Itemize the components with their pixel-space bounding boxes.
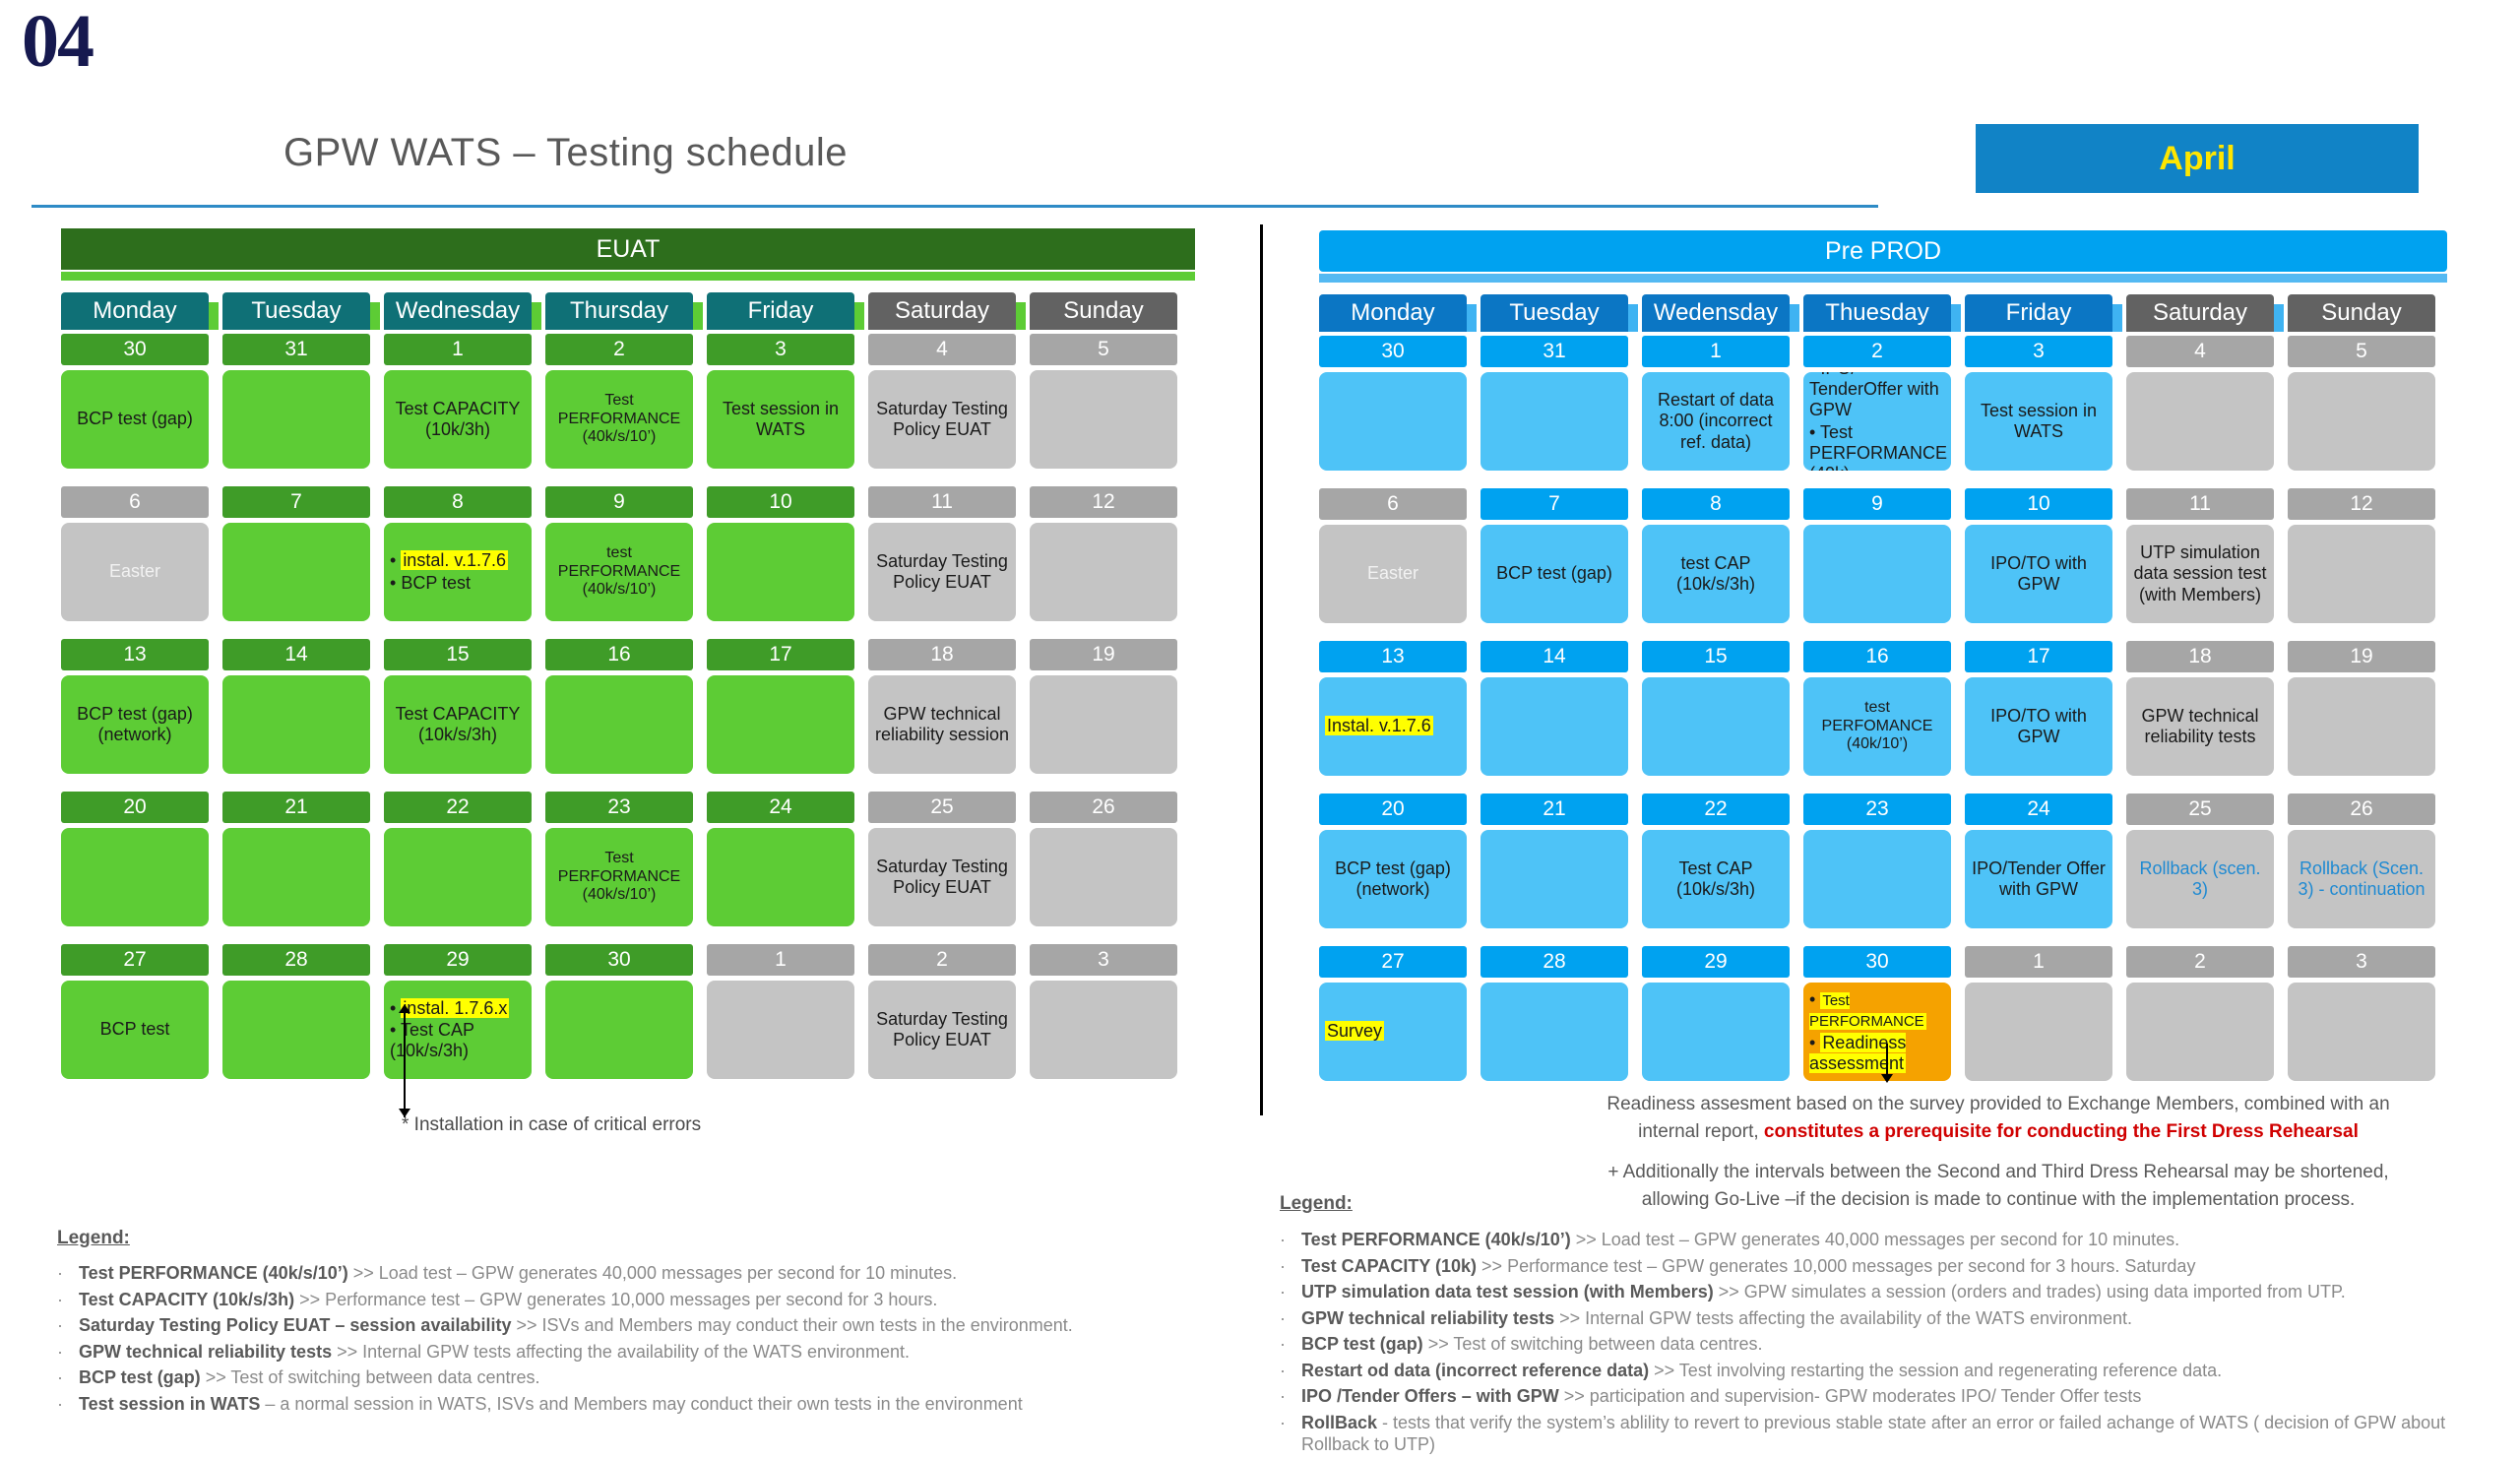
- preprod-day-cell[interactable]: test CAP (10k/s/3h): [1642, 525, 1790, 623]
- euat-day-number: 29: [384, 944, 532, 976]
- euat-day-number: 20: [61, 792, 209, 823]
- euat-day-11[interactable]: 11Saturday Testing Policy EUAT: [868, 486, 1016, 621]
- euat-legend-term: Saturday Testing Policy EUAT – session a…: [79, 1315, 511, 1335]
- preprod-dayname-tuesday: Tuesday: [1480, 294, 1628, 332]
- preprod-day-cell[interactable]: [1480, 983, 1628, 1081]
- preprod-day-3[interactable]: 3: [2288, 946, 2435, 1081]
- preprod-day-cell[interactable]: [2126, 983, 2274, 1081]
- euat-day-cell[interactable]: test PERFORMANCE (40k/s/10’): [545, 523, 693, 621]
- preprod-day-number: 12: [2288, 488, 2435, 520]
- euat-day-17[interactable]: 17: [707, 639, 854, 774]
- preprod-day-gap: [2112, 793, 2126, 928]
- readiness-note-line1: Readiness assesment based on the survey …: [1575, 1091, 2422, 1118]
- preprod-day-cell[interactable]: IPO/TO with GPW: [1965, 677, 2112, 776]
- preprod-day-number: 3: [2288, 946, 2435, 978]
- preprod-day-2[interactable]: 2• IPO/ TenderOffer with GPW• Test PERFO…: [1803, 336, 1951, 471]
- euat-day-cell[interactable]: [1030, 523, 1177, 621]
- bullet-dot-icon: •: [1809, 422, 1820, 442]
- euat-cell-label: GPW technical reliability session: [874, 704, 1010, 745]
- euat-day-cell[interactable]: BCP test: [61, 981, 209, 1079]
- preprod-day-26[interactable]: 26Rollback (Scen. 3) - continuation: [2288, 793, 2435, 928]
- bullet-dot-icon: ·: [1280, 1229, 1301, 1251]
- euat-day-number: 9: [545, 486, 693, 518]
- installation-arrow-euat: [398, 1004, 411, 1117]
- preprod-day-number: 26: [2288, 793, 2435, 825]
- preprod-day-gap: [1951, 946, 1965, 1081]
- euat-day-cell[interactable]: [1030, 675, 1177, 774]
- euat-day-23[interactable]: 23Test PERFORMANCE (40k/s/10’): [545, 792, 693, 926]
- euat-dayname-sunday: Sunday: [1030, 292, 1177, 330]
- euat-day-3[interactable]: 3Test session in WATS: [707, 334, 854, 469]
- euat-cell-bullet: • instal. v.1.7.6: [390, 550, 526, 571]
- section-divider: [1260, 224, 1263, 1115]
- euat-day-30[interactable]: 30BCP test (gap): [61, 334, 209, 469]
- euat-legend-item: ·GPW technical reliability tests >> Inte…: [57, 1341, 1219, 1364]
- preprod-day-cell[interactable]: Rollback (Scen. 3) - continuation: [2288, 830, 2435, 928]
- bullet-dot-icon: ·: [1280, 1412, 1301, 1434]
- euat-legend-term: GPW technical reliability tests: [79, 1342, 332, 1362]
- euat-day-number: 2: [545, 334, 693, 365]
- euat-day-31[interactable]: 31: [222, 334, 370, 469]
- euat-day-cell[interactable]: Test session in WATS: [707, 370, 854, 469]
- preprod-legend-item: ·Test CAPACITY (10k) >> Performance test…: [1280, 1255, 2510, 1278]
- preprod-cell-bullet: • Readiness assessment: [1809, 1033, 1945, 1074]
- preprod-day-29[interactable]: 29: [1642, 946, 1790, 1081]
- preprod-day-cell[interactable]: [2288, 525, 2435, 623]
- preprod-day-gap: [2274, 946, 2288, 1081]
- euat-day-cell[interactable]: BCP test (gap): [61, 370, 209, 469]
- readiness-arrow-preprod: [1880, 1044, 1894, 1083]
- euat-cell-label: Test CAPACITY (10k/s/3h): [390, 704, 526, 745]
- euat-day-number: 27: [61, 944, 209, 976]
- preprod-day-cell[interactable]: Rollback (scen. 3): [2126, 830, 2274, 928]
- preprod-legend-text: Restart od data (incorrect reference dat…: [1301, 1360, 2222, 1382]
- preprod-day-cell[interactable]: [1480, 830, 1628, 928]
- euat-day-cell[interactable]: [545, 675, 693, 774]
- page-title: GPW WATS – Testing schedule: [283, 131, 848, 175]
- preprod-day-cell[interactable]: [1642, 983, 1790, 1081]
- euat-cell-label: Saturday Testing Policy EUAT: [874, 551, 1010, 593]
- preprod-day-15[interactable]: 15: [1642, 641, 1790, 776]
- euat-day-cell[interactable]: [1030, 370, 1177, 469]
- euat-dayname-thursday: Thursday: [545, 292, 693, 330]
- preprod-day-number: 1: [1642, 336, 1790, 367]
- preprod-day-cell[interactable]: [2288, 983, 2435, 1081]
- bullet-dot-icon: ·: [57, 1393, 79, 1416]
- preprod-day-gap: [2274, 793, 2288, 928]
- euat-day-cell[interactable]: • instal. v.1.7.6• BCP test: [384, 523, 532, 621]
- euat-day-gap: [693, 486, 707, 621]
- euat-day-10[interactable]: 10: [707, 486, 854, 621]
- preprod-day-number: 20: [1319, 793, 1467, 825]
- preprod-day-3[interactable]: 3Test session in WATS: [1965, 336, 2112, 471]
- euat-day-24[interactable]: 24: [707, 792, 854, 926]
- euat-day-cell[interactable]: Easter: [61, 523, 209, 621]
- euat-day-2[interactable]: 2Test PERFORMANCE (40k/s/10’): [545, 334, 693, 469]
- preprod-day-cell[interactable]: [2288, 372, 2435, 471]
- preprod-dayname-separator: [1467, 294, 1480, 332]
- preprod-day-1[interactable]: 1Restart of data 8:00 (incorrect ref. da…: [1642, 336, 1790, 471]
- euat-day-number: 23: [545, 792, 693, 823]
- preprod-legend-text: GPW technical reliability tests >> Inter…: [1301, 1307, 2132, 1330]
- bullet-dot-icon: ·: [57, 1262, 79, 1285]
- euat-day-cell[interactable]: [61, 828, 209, 926]
- preprod-day-gap: [1628, 488, 1642, 623]
- euat-legend-item: ·Test PERFORMANCE (40k/s/10’) >> Load te…: [57, 1262, 1219, 1285]
- preprod-day-14[interactable]: 14: [1480, 641, 1628, 776]
- euat-week-row: 30BCP test (gap)311Test CAPACITY (10k/3h…: [61, 334, 1195, 469]
- euat-day-gap: [370, 639, 384, 774]
- preprod-day-22[interactable]: 22Test CAP (10k/s/3h): [1642, 793, 1790, 928]
- euat-day-number: 14: [222, 639, 370, 670]
- euat-legend-term: Test session in WATS: [79, 1394, 260, 1414]
- preprod-banner-underline: [1319, 274, 2447, 283]
- preprod-day-2[interactable]: 2: [2126, 946, 2274, 1081]
- preprod-day-18[interactable]: 18GPW technical reliability tests: [2126, 641, 2274, 776]
- euat-day-13[interactable]: 13BCP test (gap) (network): [61, 639, 209, 774]
- preprod-day-cell[interactable]: IPO/TO with GPW: [1965, 525, 2112, 623]
- preprod-day-17[interactable]: 17IPO/TO with GPW: [1965, 641, 2112, 776]
- preprod-cell-label: Test CAP (10k/s/3h): [1648, 858, 1784, 900]
- euat-cell-label: test PERFORMANCE (40k/s/10’): [551, 544, 687, 601]
- preprod-day-gap: [1790, 641, 1803, 776]
- preprod-dayname-monday: Monday: [1319, 294, 1467, 332]
- preprod-day-30[interactable]: 30• Test PERFORMANCE• Readiness assessme…: [1803, 946, 1951, 1081]
- preprod-day-20[interactable]: 20BCP test (gap) (network): [1319, 793, 1467, 928]
- euat-day-gap: [693, 334, 707, 469]
- euat-day-12[interactable]: 12: [1030, 486, 1177, 621]
- euat-day-gap: [532, 792, 545, 926]
- preprod-legend-text: Test PERFORMANCE (40k/s/10’) >> Load tes…: [1301, 1229, 2179, 1251]
- preprod-dayname-thuesday: Thuesday: [1803, 294, 1951, 332]
- euat-legend: ·Test PERFORMANCE (40k/s/10’) >> Load te…: [57, 1262, 1219, 1419]
- euat-cell-label: BCP test: [100, 1019, 170, 1040]
- preprod-day-cell[interactable]: [1965, 983, 2112, 1081]
- euat-day-cell[interactable]: Saturday Testing Policy EUAT: [868, 370, 1016, 469]
- bullet-dot-icon: •: [1809, 372, 1820, 378]
- euat-day-cell[interactable]: Test CAPACITY (10k/3h): [384, 370, 532, 469]
- euat-day-6[interactable]: 6Easter: [61, 486, 209, 621]
- euat-dayname-separator: [209, 292, 222, 330]
- preprod-day-1[interactable]: 1: [1965, 946, 2112, 1081]
- euat-day-5[interactable]: 5: [1030, 334, 1177, 469]
- preprod-day-28[interactable]: 28: [1480, 946, 1628, 1081]
- preprod-day-27[interactable]: 27Survey: [1319, 946, 1467, 1081]
- preprod-legend-term: Restart od data (incorrect reference dat…: [1301, 1361, 1649, 1380]
- preprod-day-number: 18: [2126, 641, 2274, 672]
- euat-day-14[interactable]: 14: [222, 639, 370, 774]
- euat-day-cell[interactable]: [384, 828, 532, 926]
- euat-day-cell[interactable]: [707, 523, 854, 621]
- preprod-day-number: 4: [2126, 336, 2274, 367]
- preprod-dayname-separator: [1790, 294, 1803, 332]
- preprod-day-cell[interactable]: [2288, 677, 2435, 776]
- preprod-day-cell[interactable]: IPO/Tender Offer with GPW: [1965, 830, 2112, 928]
- euat-day-number: 31: [222, 334, 370, 365]
- euat-day-number: 7: [222, 486, 370, 518]
- preprod-day-cell[interactable]: BCP test (gap) (network): [1319, 830, 1467, 928]
- euat-day-number: 15: [384, 639, 532, 670]
- euat-cell-label: Test CAPACITY (10k/3h): [390, 399, 526, 440]
- preprod-day-21[interactable]: 21: [1480, 793, 1628, 928]
- euat-day-number: 11: [868, 486, 1016, 518]
- preprod-legend-title: Legend:: [1280, 1193, 1353, 1215]
- preprod-day-cell[interactable]: [1480, 677, 1628, 776]
- preprod-day-31[interactable]: 31: [1480, 336, 1628, 471]
- euat-day-20[interactable]: 20: [61, 792, 209, 926]
- euat-day-gap: [370, 486, 384, 621]
- preprod-day-number: 15: [1642, 641, 1790, 672]
- euat-cell-label: Saturday Testing Policy EUAT: [874, 1009, 1010, 1050]
- preprod-day-cell[interactable]: Instal. v.1.7.6: [1319, 677, 1467, 776]
- euat-day-number: 4: [868, 334, 1016, 365]
- preprod-day-cell[interactable]: [1319, 372, 1467, 471]
- preprod-legend-desc: >> Test involving restarting the session…: [1649, 1361, 2222, 1380]
- preprod-cell-highlight-label: Survey: [1325, 1021, 1384, 1041]
- euat-cell-bullet-label: instal. v.1.7.6: [401, 550, 508, 570]
- preprod-day-number: 11: [2126, 488, 2274, 520]
- euat-day-gap: [532, 944, 545, 1079]
- preprod-day-16[interactable]: 16test PERFOMANCE (40k/10’): [1803, 641, 1951, 776]
- euat-day-8[interactable]: 8• instal. v.1.7.6• BCP test: [384, 486, 532, 621]
- euat-day-number: 25: [868, 792, 1016, 823]
- euat-day-26[interactable]: 26: [1030, 792, 1177, 926]
- preprod-week-row: 13Instal. v.1.7.6141516test PERFOMANCE (…: [1319, 641, 2447, 776]
- euat-day-1[interactable]: 1Test CAPACITY (10k/3h): [384, 334, 532, 469]
- preprod-day-number: 30: [1803, 946, 1951, 978]
- euat-day-gap: [1016, 792, 1030, 926]
- preprod-day-gap: [1790, 793, 1803, 928]
- euat-day-gap: [209, 792, 222, 926]
- preprod-day-gap: [1951, 336, 1965, 471]
- bullet-dot-icon: •: [1809, 989, 1820, 1009]
- readiness-note-line4: allowing Go-Live –if the decision is mad…: [1575, 1186, 2422, 1214]
- readiness-note-line2-prefix: internal report,: [1638, 1121, 1764, 1142]
- euat-legend-item: ·Test session in WATS – a normal session…: [57, 1393, 1219, 1416]
- euat-day-cell[interactable]: Test PERFORMANCE (40k/s/10’): [545, 828, 693, 926]
- preprod-day-gap: [1467, 641, 1480, 776]
- preprod-day-7[interactable]: 7BCP test (gap): [1480, 488, 1628, 623]
- preprod-day-cell[interactable]: [1480, 372, 1628, 471]
- bullet-dot-icon: ·: [57, 1366, 79, 1389]
- euat-day-cell[interactable]: Saturday Testing Policy EUAT: [868, 981, 1016, 1079]
- preprod-day-25[interactable]: 25Rollback (scen. 3): [2126, 793, 2274, 928]
- preprod-legend-item: ·Test PERFORMANCE (40k/s/10’) >> Load te…: [1280, 1229, 2510, 1251]
- euat-day-gap: [854, 792, 868, 926]
- euat-day-28[interactable]: 28: [222, 944, 370, 1079]
- month-badge: April: [1976, 124, 2419, 193]
- euat-legend-term: Test CAPACITY (10k/s/3h): [79, 1290, 294, 1309]
- preprod-day-cell[interactable]: BCP test (gap): [1480, 525, 1628, 623]
- euat-day-gap: [532, 486, 545, 621]
- euat-day-number: 10: [707, 486, 854, 518]
- preprod-legend-term: IPO /Tender Offers – with GPW: [1301, 1386, 1559, 1406]
- preprod-day-number: 5: [2288, 336, 2435, 367]
- preprod-day-number: 10: [1965, 488, 2112, 520]
- bullet-dot-icon: •: [1809, 1033, 1820, 1052]
- euat-day-25[interactable]: 25Saturday Testing Policy EUAT: [868, 792, 1016, 926]
- euat-day-cell[interactable]: [707, 828, 854, 926]
- euat-day-7[interactable]: 7: [222, 486, 370, 621]
- euat-day-number: 16: [545, 639, 693, 670]
- euat-legend-text: GPW technical reliability tests >> Inter…: [79, 1341, 910, 1364]
- preprod-day-cell[interactable]: UTP simulation data session test (with M…: [2126, 525, 2274, 623]
- euat-day-gap: [854, 334, 868, 469]
- preprod-cell-bullets: • Test PERFORMANCE• Readiness assessment: [1809, 988, 1945, 1075]
- preprod-day-number: 6: [1319, 488, 1467, 520]
- euat-dayname-saturday: Saturday: [868, 292, 1016, 330]
- preprod-day-gap: [2274, 488, 2288, 623]
- euat-day-cell[interactable]: [707, 981, 854, 1079]
- euat-day-gap: [370, 334, 384, 469]
- preprod-day-30[interactable]: 30: [1319, 336, 1467, 471]
- preprod-day-cell[interactable]: [2126, 372, 2274, 471]
- euat-day-cell[interactable]: BCP test (gap) (network): [61, 675, 209, 774]
- readiness-note: Readiness assesment based on the survey …: [1575, 1091, 2422, 1213]
- euat-cell-label: Easter: [109, 561, 160, 582]
- preprod-cell-highlight: Instal. v.1.7.6: [1325, 716, 1461, 736]
- preprod-legend-term: GPW technical reliability tests: [1301, 1308, 1554, 1328]
- preprod-day-10[interactable]: 10IPO/TO with GPW: [1965, 488, 2112, 623]
- euat-day-cell[interactable]: [222, 981, 370, 1079]
- preprod-dayname-friday: Friday: [1965, 294, 2112, 332]
- euat-day-cell[interactable]: [707, 675, 854, 774]
- preprod-cell-label: test CAP (10k/s/3h): [1648, 553, 1784, 595]
- preprod-day-cell[interactable]: test PERFOMANCE (40k/10’): [1803, 677, 1951, 776]
- euat-day-3[interactable]: 3: [1030, 944, 1177, 1079]
- preprod-legend-item: ·RollBack - tests that verify the system…: [1280, 1412, 2510, 1456]
- euat-legend-item: ·BCP test (gap) >> Test of switching bet…: [57, 1366, 1219, 1389]
- preprod-cell-label: IPO/TO with GPW: [1971, 706, 2107, 747]
- preprod-day-13[interactable]: 13Instal. v.1.7.6: [1319, 641, 1467, 776]
- euat-day-30[interactable]: 30: [545, 944, 693, 1079]
- preprod-day-gap: [2112, 641, 2126, 776]
- preprod-day-cell[interactable]: Test session in WATS: [1965, 372, 2112, 471]
- euat-day-1[interactable]: 1: [707, 944, 854, 1079]
- preprod-day-cell[interactable]: Survey: [1319, 983, 1467, 1081]
- euat-day-18[interactable]: 18GPW technical reliability session: [868, 639, 1016, 774]
- preprod-day-number: 2: [1803, 336, 1951, 367]
- euat-day-gap: [209, 334, 222, 469]
- euat-day-number: 6: [61, 486, 209, 518]
- preprod-cell-label: Test session in WATS: [1971, 401, 2107, 442]
- euat-day-cell[interactable]: [222, 828, 370, 926]
- preprod-week-row: 30311Restart of data 8:00 (incorrect ref…: [1319, 336, 2447, 471]
- preprod-day-cell[interactable]: • IPO/ TenderOffer with GPW• Test PERFOR…: [1803, 372, 1951, 471]
- preprod-cell-label: Rollback (scen. 3): [2132, 858, 2268, 900]
- readiness-note-line3: + Additionally the intervals between the…: [1575, 1159, 2422, 1186]
- euat-day-gap: [693, 944, 707, 1079]
- euat-footnote: * Installation in case of critical error…: [402, 1114, 701, 1136]
- euat-day-cell[interactable]: Test PERFORMANCE (40k/s/10’): [545, 370, 693, 469]
- preprod-day-23[interactable]: 23: [1803, 793, 1951, 928]
- euat-dayname-wednesday: Wednesday: [384, 292, 532, 330]
- euat-day-cell[interactable]: Saturday Testing Policy EUAT: [868, 523, 1016, 621]
- preprod-legend-desc: >> participation and supervision- GPW mo…: [1559, 1386, 2142, 1406]
- euat-day-cell[interactable]: [222, 675, 370, 774]
- preprod-cell-bullet-label: Test PERFORMANCE: [1809, 992, 1926, 1030]
- euat-day-number: 1: [707, 944, 854, 976]
- euat-day-cell[interactable]: [545, 981, 693, 1079]
- preprod-day-19[interactable]: 19: [2288, 641, 2435, 776]
- preprod-day-cell[interactable]: [1642, 677, 1790, 776]
- euat-day-16[interactable]: 16: [545, 639, 693, 774]
- preprod-day-gap: [1467, 793, 1480, 928]
- euat-day-4[interactable]: 4Saturday Testing Policy EUAT: [868, 334, 1016, 469]
- preprod-day-cell[interactable]: GPW technical reliability tests: [2126, 677, 2274, 776]
- euat-dayname-separator: [370, 292, 384, 330]
- euat-week-row: 13BCP test (gap) (network)1415Test CAPAC…: [61, 639, 1195, 774]
- euat-cell-label: Saturday Testing Policy EUAT: [874, 857, 1010, 898]
- preprod-cell-label: IPO/TO with GPW: [1971, 553, 2107, 595]
- euat-dayname-separator: [693, 292, 707, 330]
- euat-day-cell[interactable]: [1030, 981, 1177, 1079]
- euat-day-27[interactable]: 27BCP test: [61, 944, 209, 1079]
- euat-week-row: 6Easter78• instal. v.1.7.6• BCP test9tes…: [61, 486, 1195, 621]
- preprod-day-number: 19: [2288, 641, 2435, 672]
- euat-day-21[interactable]: 21: [222, 792, 370, 926]
- euat-day-cell[interactable]: [1030, 828, 1177, 926]
- euat-day-cell[interactable]: GPW technical reliability session: [868, 675, 1016, 774]
- preprod-day-9[interactable]: 9: [1803, 488, 1951, 623]
- euat-day-cell[interactable]: Saturday Testing Policy EUAT: [868, 828, 1016, 926]
- preprod-day-6[interactable]: 6Easter: [1319, 488, 1467, 623]
- euat-day-cell[interactable]: [222, 370, 370, 469]
- euat-day-cell[interactable]: [222, 523, 370, 621]
- euat-day-number: 1: [384, 334, 532, 365]
- preprod-day-number: 25: [2126, 793, 2274, 825]
- euat-dayname-friday: Friday: [707, 292, 854, 330]
- preprod-cell-highlight: Survey: [1325, 1021, 1461, 1042]
- euat-day-gap: [532, 334, 545, 469]
- preprod-day-cell[interactable]: [1803, 830, 1951, 928]
- preprod-day-number: 31: [1480, 336, 1628, 367]
- euat-dayname-monday: Monday: [61, 292, 209, 330]
- euat-day-gap: [693, 792, 707, 926]
- preprod-day-12[interactable]: 12: [2288, 488, 2435, 623]
- preprod-day-cell[interactable]: Easter: [1319, 525, 1467, 623]
- euat-day-15[interactable]: 15Test CAPACITY (10k/s/3h): [384, 639, 532, 774]
- euat-day-22[interactable]: 22: [384, 792, 532, 926]
- preprod-day-4[interactable]: 4: [2126, 336, 2274, 471]
- preprod-legend-text: BCP test (gap) >> Test of switching betw…: [1301, 1333, 1763, 1356]
- euat-day-2[interactable]: 2Saturday Testing Policy EUAT: [868, 944, 1016, 1079]
- preprod-day-cell[interactable]: [1803, 525, 1951, 623]
- euat-day-number: 30: [545, 944, 693, 976]
- bullet-dot-icon: ·: [57, 1314, 79, 1337]
- preprod-day-cell[interactable]: Restart of data 8:00 (incorrect ref. dat…: [1642, 372, 1790, 471]
- preprod-legend-item: ·Restart od data (incorrect reference da…: [1280, 1360, 2510, 1382]
- preprod-day-cell[interactable]: • Test PERFORMANCE• Readiness assessment: [1803, 983, 1951, 1081]
- preprod-day-gap: [1951, 641, 1965, 776]
- preprod-legend-desc: >> Internal GPW tests affecting the avai…: [1554, 1308, 2132, 1328]
- bullet-dot-icon: ·: [1280, 1333, 1301, 1356]
- euat-day-19[interactable]: 19: [1030, 639, 1177, 774]
- preprod-day-5[interactable]: 5: [2288, 336, 2435, 471]
- preprod-legend-term: UTP simulation data test session (with M…: [1301, 1282, 1714, 1301]
- preprod-day-24[interactable]: 24IPO/Tender Offer with GPW: [1965, 793, 2112, 928]
- preprod-day-11[interactable]: 11UTP simulation data session test (with…: [2126, 488, 2274, 623]
- euat-day-number: 30: [61, 334, 209, 365]
- preprod-day-number: 1: [1965, 946, 2112, 978]
- preprod-day-8[interactable]: 8test CAP (10k/s/3h): [1642, 488, 1790, 623]
- preprod-cell-bullet-label: IPO/ TenderOffer with GPW: [1809, 372, 1939, 419]
- preprod-day-cell[interactable]: Test CAP (10k/s/3h): [1642, 830, 1790, 928]
- euat-day-cell[interactable]: Test CAPACITY (10k/s/3h): [384, 675, 532, 774]
- euat-day-9[interactable]: 9test PERFORMANCE (40k/s/10’): [545, 486, 693, 621]
- preprod-day-gap: [1467, 946, 1480, 1081]
- preprod-cell-bullet-label: Test PERFORMANCE (40k): [1809, 422, 1947, 472]
